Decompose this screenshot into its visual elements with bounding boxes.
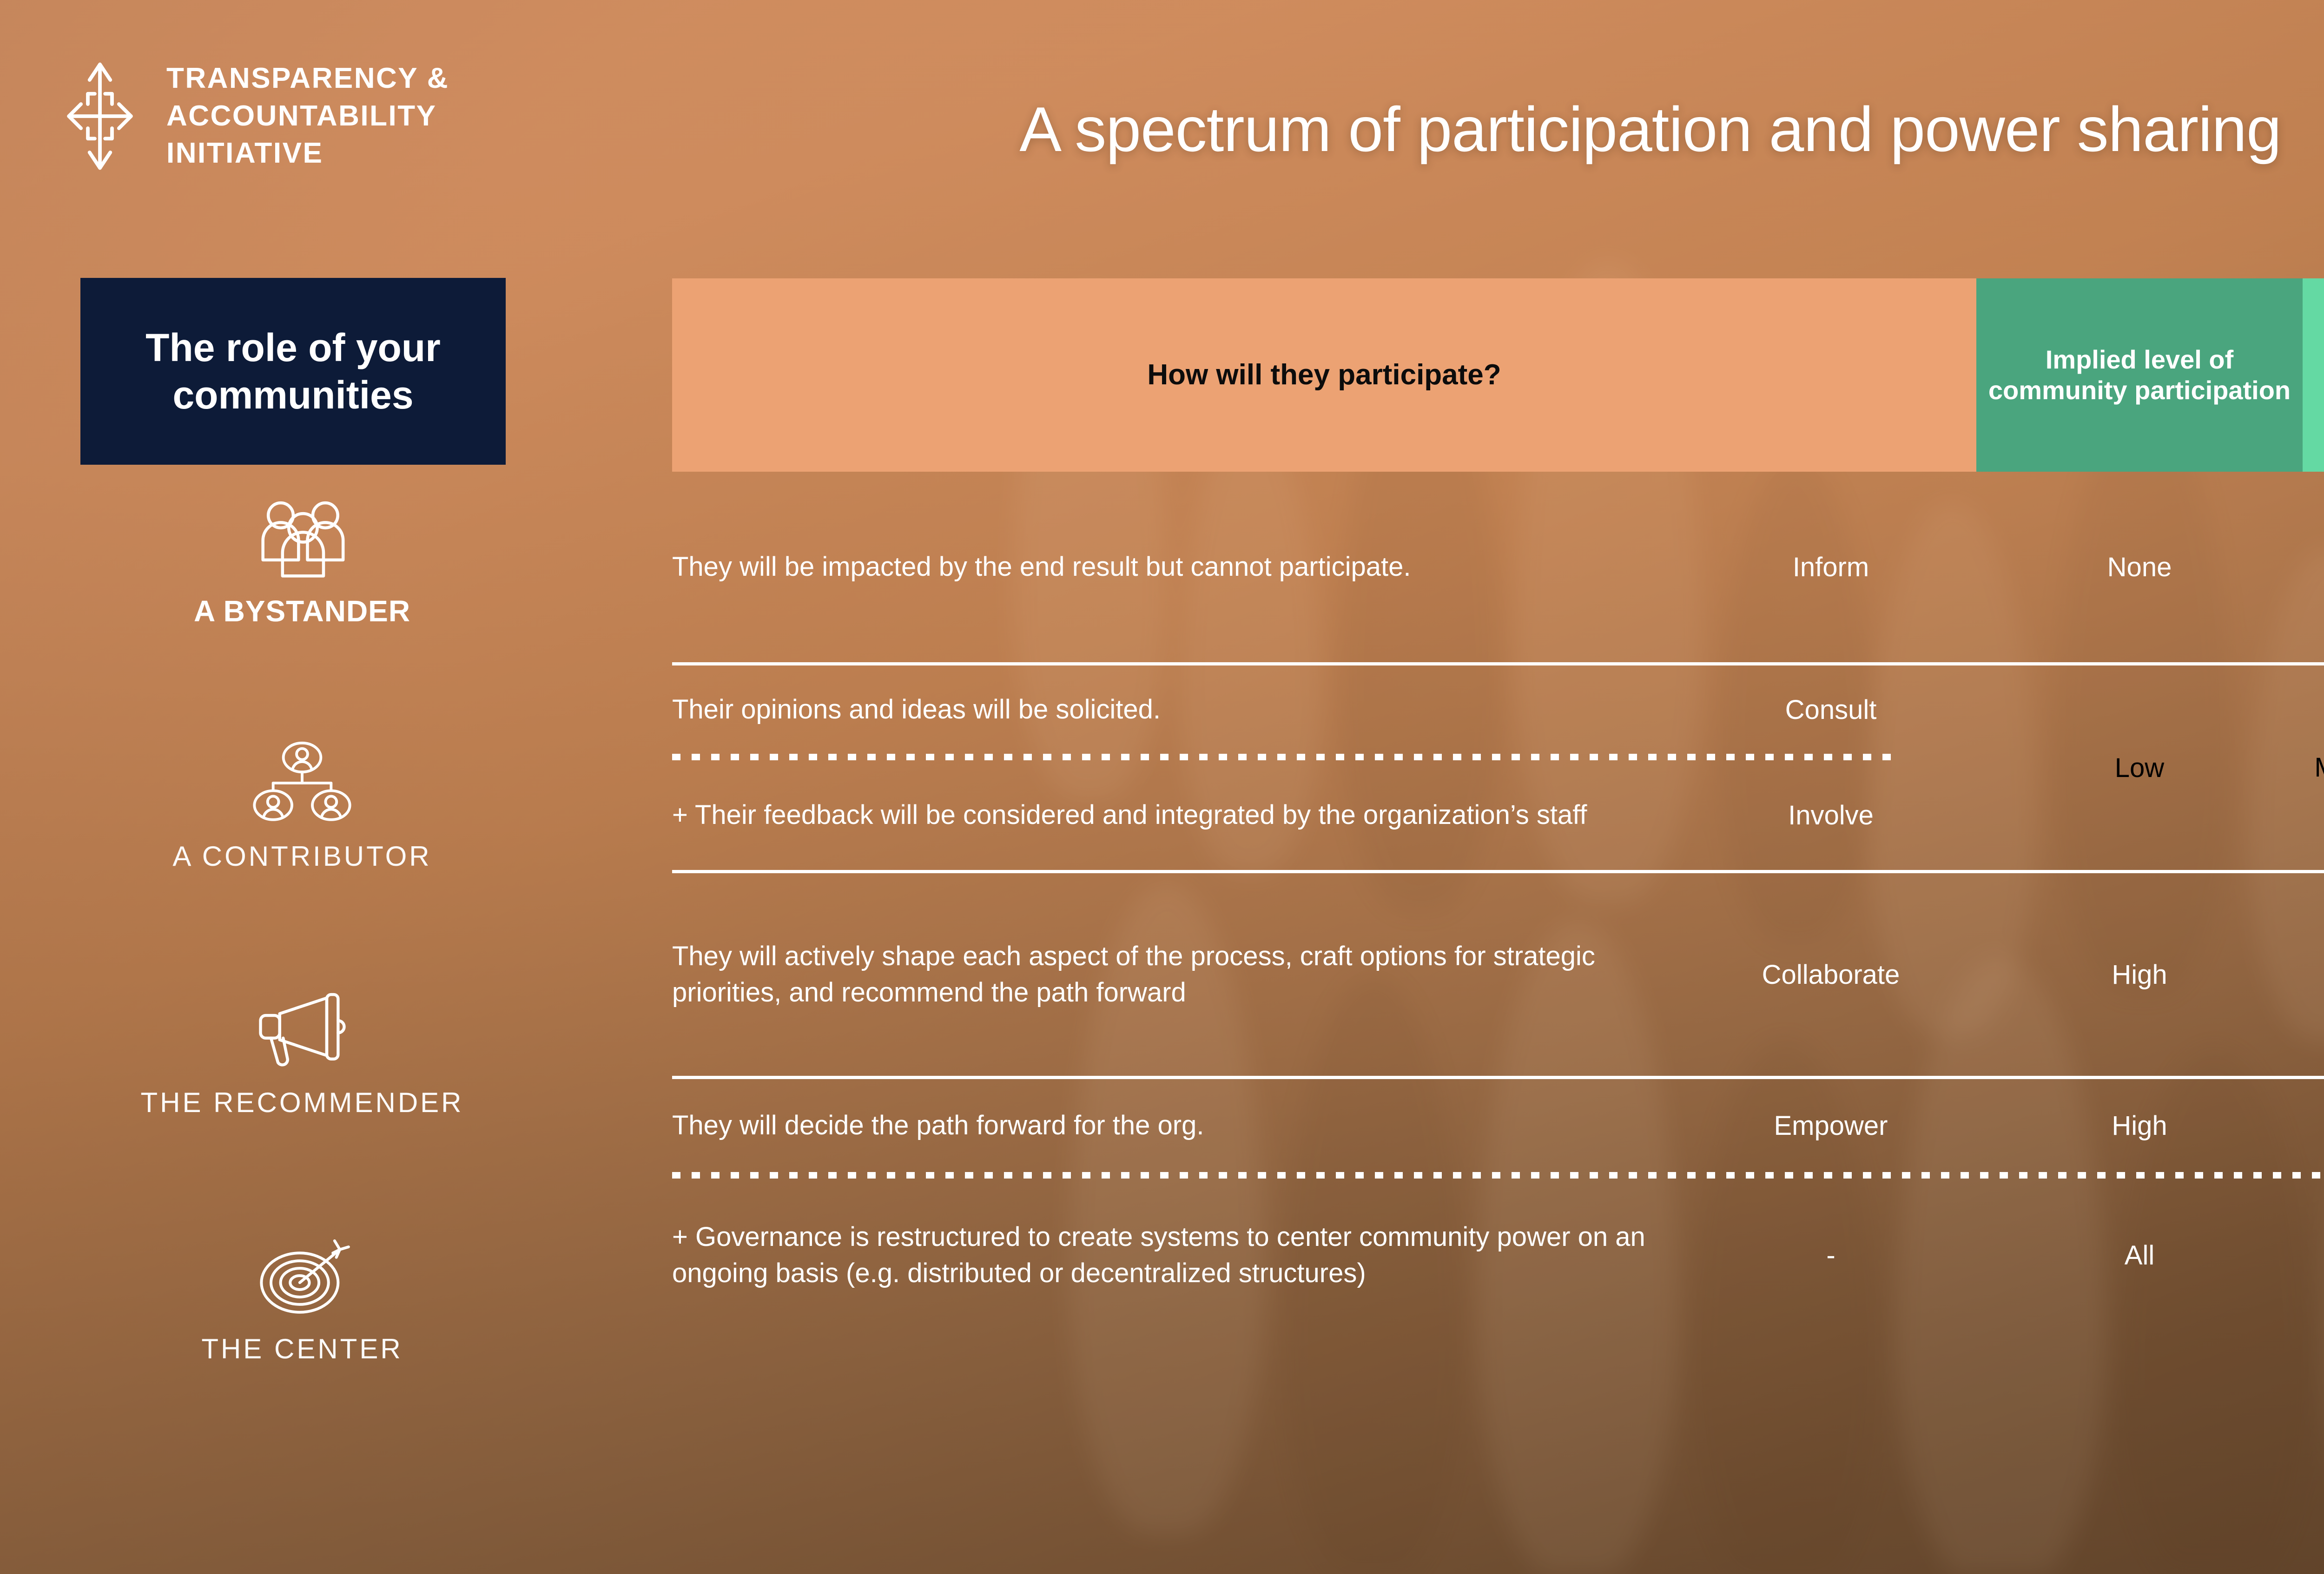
cell-description: They will be impacted by the end result … <box>672 549 1685 585</box>
sidebar-item-the-recommender[interactable]: THE RECOMMENDER <box>0 985 604 1119</box>
table-row-group-contributor: Their opinions and ideas will be solicit… <box>672 665 2324 870</box>
row-separator-dotted <box>672 1172 2324 1179</box>
participation-spectrum-table: How will they participate? Implied level… <box>672 278 2324 1332</box>
sidebar-item-a-bystander[interactable]: A BYSTANDER <box>0 493 604 628</box>
table-row: + Their feedback will be considered and … <box>672 760 1976 870</box>
row-separator <box>672 662 2324 665</box>
column-header-how-will-they-participate: How will they participate? <box>672 278 1976 472</box>
cell-participation: High <box>1976 1110 2303 1141</box>
cell-power: All <box>2303 1237 2324 1273</box>
column-header-implied-level-of-community-participation: Implied level of community participation <box>1976 278 2303 472</box>
sidebar: Transparency & Accountability Initiative… <box>0 0 646 1574</box>
cell-description: + Their feedback will be considered and … <box>672 797 1685 833</box>
cell-participation: Low <box>1976 752 2303 784</box>
cell-mode: Collaborate <box>1685 959 1976 990</box>
cell-mode: Inform <box>1685 552 1976 583</box>
megaphone-icon <box>250 985 355 1073</box>
network-of-people-icon <box>251 739 353 827</box>
compass-arrows-logo-icon <box>56 56 144 177</box>
group-of-people-icon <box>249 493 356 581</box>
sidebar-item-the-center[interactable]: THE CENTER <box>0 1232 604 1365</box>
brand-line-1: Transparency & <box>166 60 449 98</box>
sidebar-item-label: THE CENTER <box>201 1333 403 1365</box>
table-row: + Governance is restructured to create s… <box>672 1179 2324 1332</box>
section-title-badge: The role of your communities <box>80 278 506 465</box>
section-title-text: The role of your communities <box>80 324 506 419</box>
brand-logo[interactable]: Transparency & Accountability Initiative <box>56 56 449 177</box>
cell-power: Marginal influence, No power <box>2303 750 2324 786</box>
brand-line-2: Accountability <box>166 98 449 135</box>
sidebar-item-label: A BYSTANDER <box>194 594 410 628</box>
cell-mode: Empower <box>1685 1110 1976 1141</box>
cell-power: High <box>2303 1107 2324 1144</box>
table-header-row: How will they participate? Implied level… <box>672 278 2324 472</box>
cell-description: + Governance is restructured to create s… <box>672 1219 1685 1291</box>
row-separator-dotted <box>672 754 1899 760</box>
sidebar-item-a-contributor[interactable]: A CONTRIBUTOR <box>0 739 604 872</box>
table-row: Their opinions and ideas will be solicit… <box>672 665 1976 754</box>
target-with-arrow-icon <box>250 1232 355 1320</box>
brand-line-3: Initiative <box>166 135 449 172</box>
cell-description: They will actively shape each aspect of … <box>672 938 1685 1010</box>
sidebar-item-label: A CONTRIBUTOR <box>172 840 431 872</box>
row-separator <box>672 870 2324 873</box>
cell-mode: - <box>1685 1240 1976 1271</box>
table-row: They will be impacted by the end result … <box>672 472 2324 662</box>
cell-power: None <box>2303 549 2324 585</box>
cell-power: Moderate <box>2303 956 2324 993</box>
column-header-implied-level-of-shared-decision-making-power: Implied level of shared decision making … <box>2303 278 2324 472</box>
main-content: A spectrum of participation and power sh… <box>646 0 2324 1574</box>
cell-mode: Involve <box>1685 800 1976 831</box>
cell-description: Their opinions and ideas will be solicit… <box>672 692 1685 728</box>
table-row: They will decide the path forward for th… <box>672 1079 2324 1172</box>
sidebar-item-label: THE RECOMMENDER <box>140 1087 463 1119</box>
brand-name: Transparency & Accountability Initiative <box>166 60 449 172</box>
cell-mode: Consult <box>1685 694 1976 725</box>
cell-description: They will decide the path forward for th… <box>672 1107 1685 1144</box>
cell-participation: All <box>1976 1240 2303 1271</box>
cell-participation: None <box>1976 552 2303 583</box>
page-title: A spectrum of participation and power sh… <box>646 93 2324 165</box>
cell-participation: High <box>1976 959 2303 990</box>
table-row: They will actively shape each aspect of … <box>672 873 2324 1076</box>
row-separator <box>672 1076 2324 1079</box>
